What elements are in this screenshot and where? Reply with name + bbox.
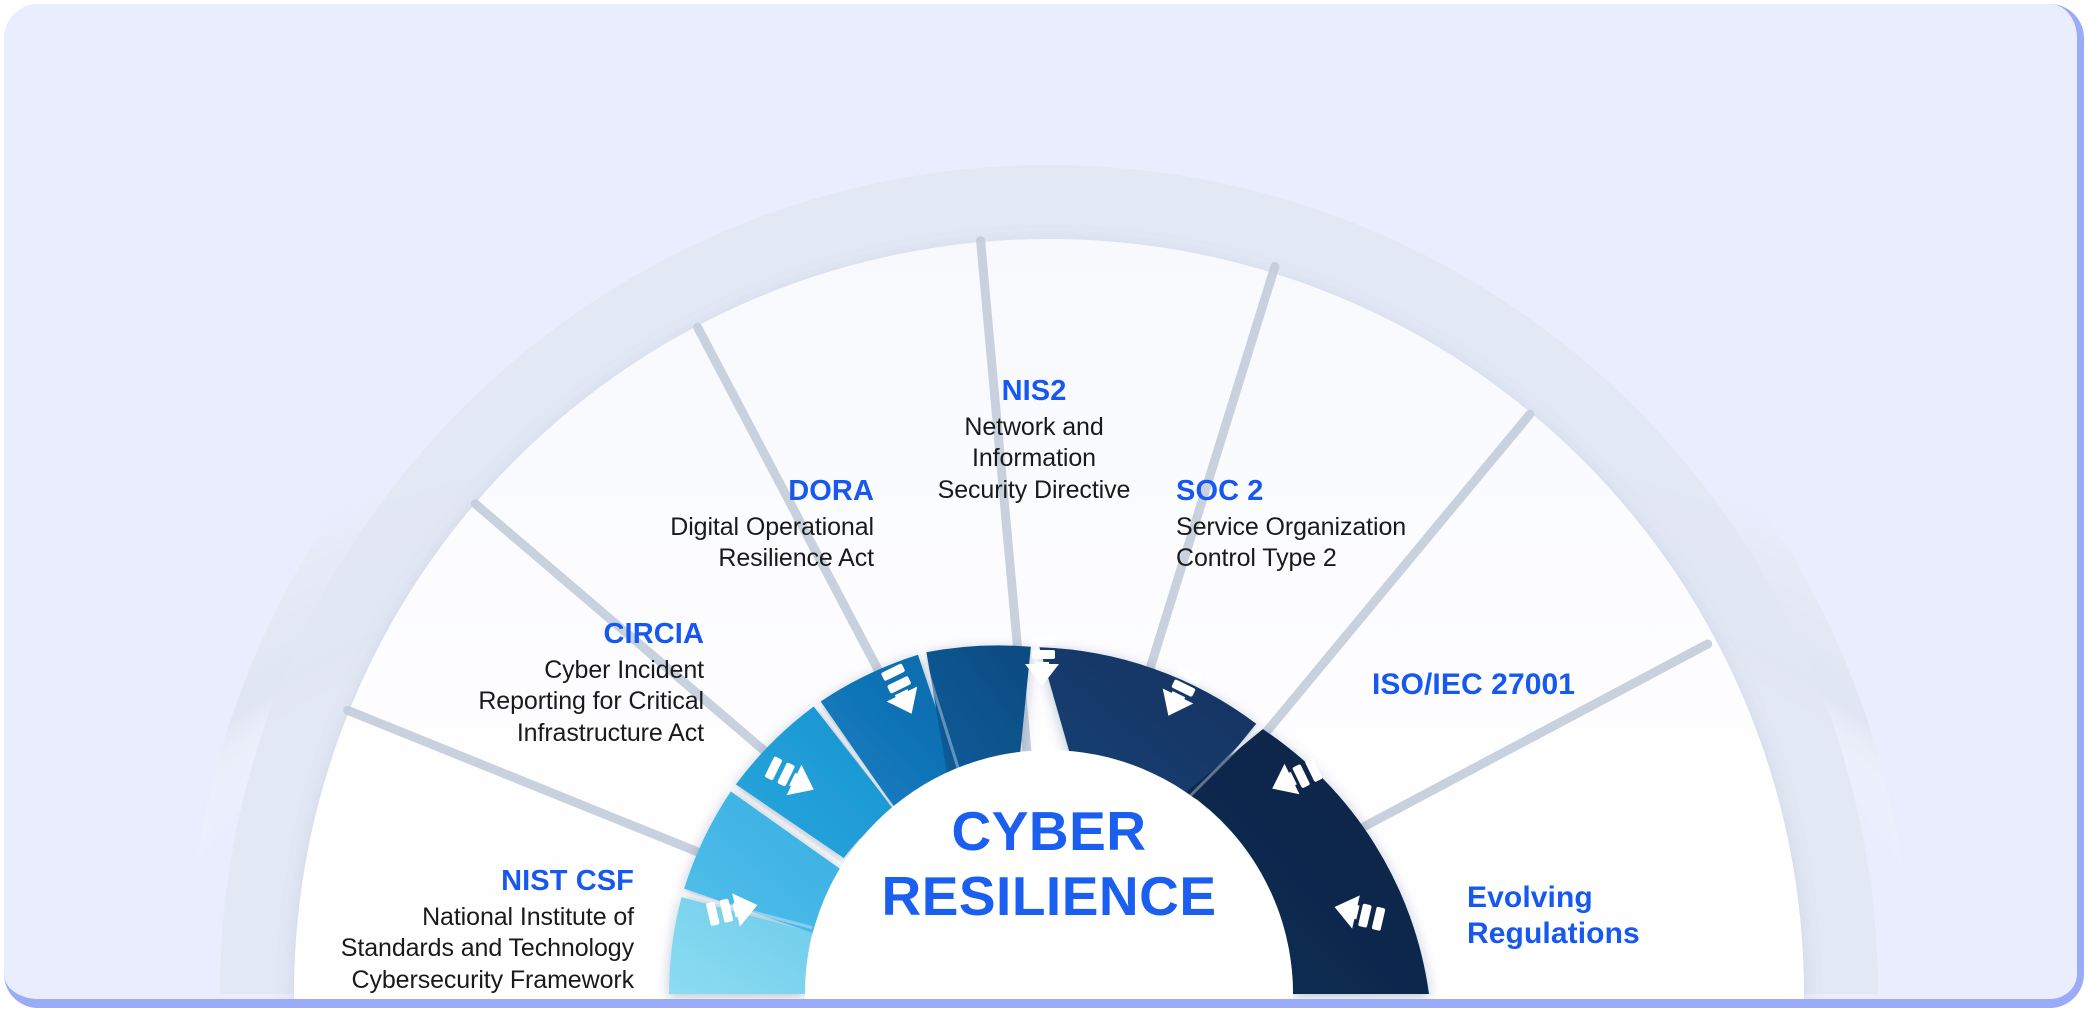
infographic-card: NIST CSFNational Institute of Standards … (4, 4, 2084, 1008)
label-iso-iec-27001-title: ISO/IEC 27001 (1372, 666, 1702, 704)
label-dora[interactable]: DORADigital Operational Resilience Act (434, 441, 874, 575)
label-nist-csf-title: NIST CSF (304, 863, 634, 900)
label-nist-csf-desc: National Institute of Standards and Tech… (341, 903, 634, 995)
label-nis2-desc: Network and Information Security Directi… (938, 413, 1131, 505)
label-circia[interactable]: CIRCIACyber Incident Reporting for Criti… (364, 584, 704, 750)
label-soc-2-title: SOC 2 (1176, 473, 1536, 510)
label-iso-iec-27001[interactable]: ISO/IEC 27001 (1372, 634, 1702, 736)
label-soc-2-desc: Service Organization Control Type 2 (1176, 513, 1406, 573)
diagram-stage: NIST CSFNational Institute of Standards … (4, 4, 2077, 999)
label-evolving-regulations[interactable]: Evolving Regulations (1467, 849, 1787, 983)
center-title: CYBER RESILIENCE (824, 799, 1274, 929)
label-soc-2[interactable]: SOC 2Service Organization Control Type 2 (1176, 441, 1536, 575)
label-circia-title: CIRCIA (364, 616, 704, 653)
label-nis2[interactable]: NIS2Network and Information Security Dir… (859, 341, 1209, 507)
label-nis2-title: NIS2 (859, 373, 1209, 410)
center-title-line1: CYBER (824, 799, 1274, 864)
label-dora-desc: Digital Operational Resilience Act (670, 513, 874, 573)
center-title-line2: RESILIENCE (824, 864, 1274, 929)
label-nist-csf[interactable]: NIST CSFNational Institute of Standards … (304, 831, 634, 997)
label-dora-title: DORA (434, 473, 874, 510)
label-evolving-regulations-title: Evolving Regulations (1467, 880, 1787, 953)
label-circia-desc: Cyber Incident Reporting for Critical In… (478, 656, 704, 748)
